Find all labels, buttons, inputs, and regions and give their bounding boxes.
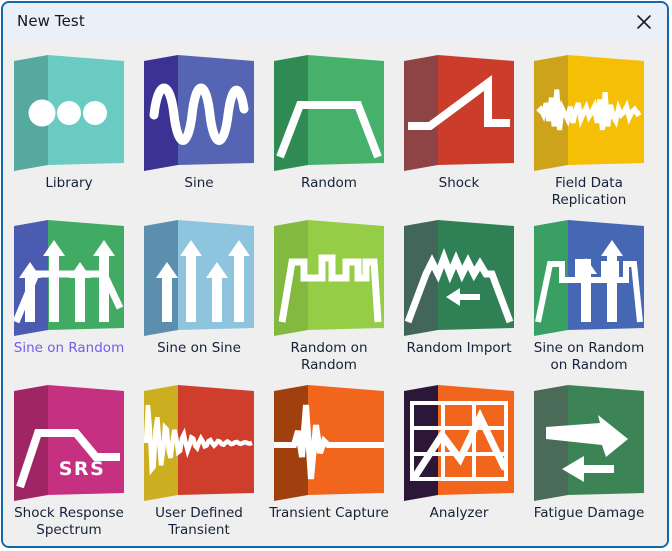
test-type-label-analyzer: Analyzer <box>395 505 523 522</box>
svg-text:SRS: SRS <box>59 458 106 480</box>
shock-response-spectrum-icon: SRS <box>10 383 128 501</box>
test-type-grid: LibrarySineRandomShockField Data Replica… <box>3 40 667 546</box>
test-type-label-sine-on-sine: Sine on Sine <box>135 340 263 357</box>
test-type-label-random-on-random: Random on Random <box>265 340 393 374</box>
test-type-label-shock-response-spectrum: Shock Response Spectrum <box>5 505 133 539</box>
test-type-tile-random[interactable]: Random <box>264 53 394 192</box>
test-type-label-shock: Shock <box>395 175 523 192</box>
test-type-label-sine: Sine <box>135 175 263 192</box>
test-type-label-fatigue-damage: Fatigue Damage <box>525 505 653 522</box>
sine-icon <box>140 53 258 171</box>
test-type-tile-sine-on-random-on-random[interactable]: Sine on Random on Random <box>524 218 654 374</box>
field-data-replication-icon <box>530 53 648 171</box>
new-test-dialog: New Test LibrarySineRandomShockField Dat… <box>1 1 669 548</box>
dialog-title: New Test <box>17 12 85 30</box>
test-type-tile-analyzer[interactable]: Analyzer <box>394 383 524 522</box>
test-type-label-random-import: Random Import <box>395 340 523 357</box>
transient-capture-icon <box>270 383 388 501</box>
test-type-tile-random-on-random[interactable]: Random on Random <box>264 218 394 374</box>
test-type-label-field-data-replication: Field Data Replication <box>525 175 653 209</box>
test-type-label-library: Library <box>5 175 133 192</box>
test-type-tile-field-data-replication[interactable]: Field Data Replication <box>524 53 654 209</box>
shock-icon <box>400 53 518 171</box>
test-type-label-sine-on-random-on-random: Sine on Random on Random <box>525 340 653 374</box>
test-type-label-transient-capture: Transient Capture <box>265 505 393 522</box>
test-type-tile-user-defined-transient[interactable]: User Defined Transient <box>134 383 264 539</box>
random-icon <box>270 53 388 171</box>
random-on-random-icon <box>270 218 388 336</box>
sine-on-sine-icon <box>140 218 258 336</box>
dialog-titlebar: New Test <box>3 3 667 40</box>
library-icon <box>10 53 128 171</box>
test-type-tile-sine-on-random[interactable]: Sine on Random <box>4 218 134 357</box>
analyzer-icon <box>400 383 518 501</box>
sine-on-random-on-random-icon <box>530 218 648 336</box>
test-type-tile-sine-on-sine[interactable]: Sine on Sine <box>134 218 264 357</box>
test-type-tile-library[interactable]: Library <box>4 53 134 192</box>
test-type-label-random: Random <box>265 175 393 192</box>
user-defined-transient-icon <box>140 383 258 501</box>
test-type-tile-random-import[interactable]: Random Import <box>394 218 524 357</box>
sine-on-random-icon <box>10 218 128 336</box>
test-type-label-sine-on-random: Sine on Random <box>5 340 133 357</box>
close-icon[interactable] <box>631 9 657 35</box>
test-type-tile-sine[interactable]: Sine <box>134 53 264 192</box>
test-type-tile-fatigue-damage[interactable]: Fatigue Damage <box>524 383 654 522</box>
test-type-tile-shock[interactable]: Shock <box>394 53 524 192</box>
fatigue-damage-icon <box>530 383 648 501</box>
random-import-icon <box>400 218 518 336</box>
test-type-tile-transient-capture[interactable]: Transient Capture <box>264 383 394 522</box>
test-type-label-user-defined-transient: User Defined Transient <box>135 505 263 539</box>
test-type-tile-shock-response-spectrum[interactable]: SRSShock Response Spectrum <box>4 383 134 539</box>
